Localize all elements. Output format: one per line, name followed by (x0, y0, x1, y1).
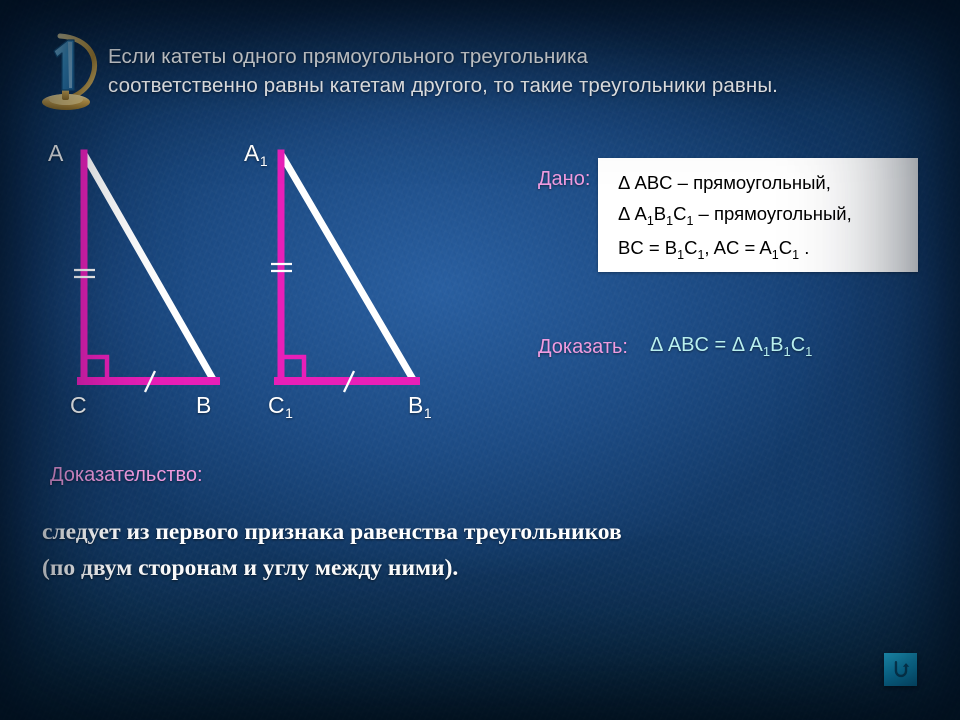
vertex-label-a1: A1 (244, 140, 267, 167)
prove-label: Доказать: (538, 336, 628, 359)
slide-statement: Если катеты одного прямоугольного треуго… (108, 42, 920, 100)
triangle-abc (74, 153, 216, 392)
given-box: Δ ABC – прямоугольный, Δ A1B1C1 – прямоу… (598, 158, 918, 272)
trophy-number-one-icon (24, 26, 112, 114)
prove-formula: Δ ABC = Δ A1B1C1 (650, 334, 812, 357)
vertex-label-c: C (70, 392, 87, 419)
proof-label: Доказательство: (50, 464, 203, 487)
background-texture (0, 0, 960, 720)
tick-c1b1-1 (344, 371, 354, 392)
hypotenuse-ab (84, 154, 214, 381)
statement-line-2: соответственно равны катетам другого, то… (108, 71, 920, 100)
vertex-label-c1: C1 (268, 392, 292, 419)
proof-line-2: (по двум сторонам и углу между ними). (42, 550, 842, 586)
proof-body: следует из первого признака равенства тр… (42, 514, 842, 586)
slide-canvas: Если катеты одного прямоугольного треуго… (0, 0, 960, 720)
right-angle-mark-c1 (283, 357, 304, 378)
triangles-figure (0, 0, 960, 720)
statement-line-1: Если катеты одного прямоугольного треуго… (108, 42, 920, 71)
given-label: Дано: (538, 168, 590, 191)
triangle-a1b1c1 (271, 153, 416, 392)
tick-cb-1 (145, 371, 155, 392)
return-arrow-icon[interactable] (884, 653, 917, 686)
given-line-3: BC = B1C1, AC = A1C1 . (618, 232, 918, 266)
right-angle-mark-c (86, 357, 107, 378)
return-arrow-glyph (890, 659, 912, 681)
proof-line-1: следует из первого признака равенства тр… (42, 514, 842, 550)
vertex-label-b: B (196, 392, 211, 419)
vignette-overlay (0, 0, 960, 720)
given-line-1: Δ ABC – прямоугольный, (618, 167, 918, 198)
hypotenuse-a1b1 (281, 154, 414, 381)
vertex-label-b1: B1 (408, 392, 431, 419)
given-line-2: Δ A1B1C1 – прямоугольный, (618, 198, 918, 232)
vertex-label-a: A (48, 140, 63, 167)
